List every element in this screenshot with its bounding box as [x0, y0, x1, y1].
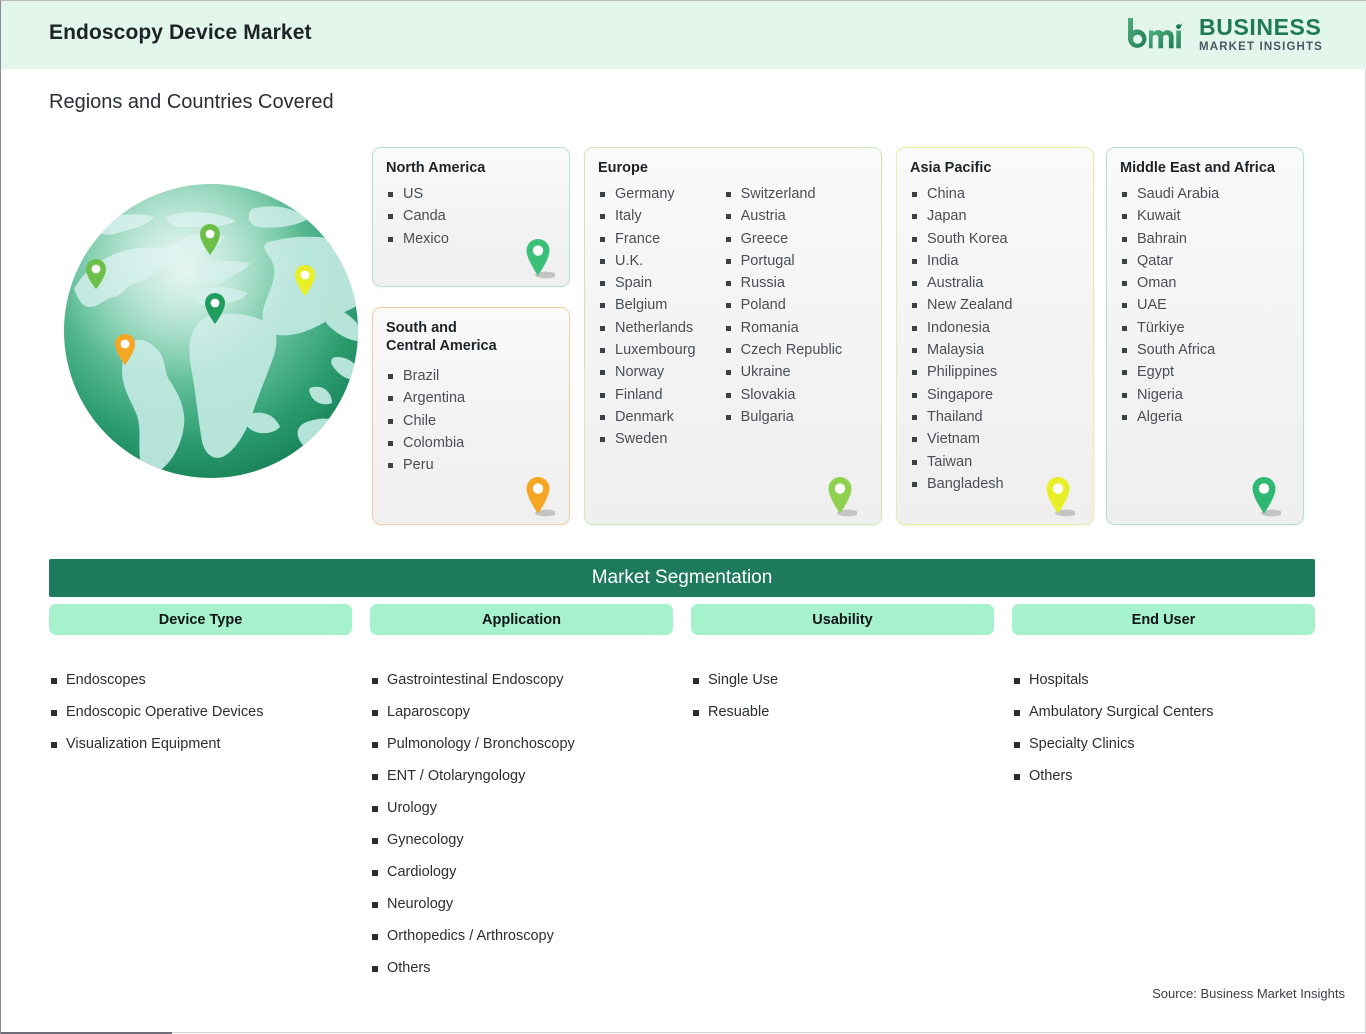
region-card-middle-east-and-africa: Middle East and Africa Saudi Arabia Kuwa…: [1106, 147, 1304, 525]
list-item: Orthopedics / Arthroscopy: [370, 920, 673, 952]
country-item: Finland: [598, 384, 696, 406]
world-globe-icon: [56, 181, 366, 481]
country-item: Indonesia: [910, 317, 1081, 339]
list-item: ENT / Otolaryngology: [370, 760, 673, 792]
footer-divider-right: [172, 1032, 1366, 1033]
segmentation-column-device-type: Device Type Endoscopes Endoscopic Operat…: [49, 604, 352, 984]
country-item: U.K.: [598, 250, 696, 272]
country-item: Spain: [598, 272, 696, 294]
segmentation-column-header: End User: [1012, 604, 1315, 635]
list-item: Gynecology: [370, 824, 673, 856]
country-item: Nigeria: [1120, 384, 1291, 406]
page-title: Endoscopy Device Market: [49, 21, 312, 45]
segmentation-column-application: Application Gastrointestinal Endoscopy L…: [370, 604, 673, 984]
region-card-title: Asia Pacific: [910, 159, 1081, 177]
company-logo: BUSINESS MARKET INSIGHTS: [1124, 12, 1323, 58]
list-item: Ambulatory Surgical Centers: [1012, 696, 1315, 728]
region-country-list-column-2: Switzerland Austria Greece Portugal Russ…: [724, 183, 843, 451]
list-item: Resuable: [691, 696, 994, 728]
country-item: UAE: [1120, 294, 1291, 316]
market-segmentation-title: Market Segmentation: [592, 567, 773, 589]
country-item: South Korea: [910, 228, 1081, 250]
logo-line-1: BUSINESS: [1199, 16, 1323, 39]
list-item: Cardiology: [370, 856, 673, 888]
country-item: Canda: [386, 205, 557, 227]
country-item: Czech Republic: [724, 339, 843, 361]
country-item: Colombia: [386, 432, 557, 454]
country-item: Algeria: [1120, 406, 1291, 428]
country-item: France: [598, 228, 696, 250]
source-attribution: Source: Business Market Insights: [1152, 986, 1345, 1001]
country-item: Saudi Arabia: [1120, 183, 1291, 205]
list-item: Specialty Clinics: [1012, 728, 1315, 760]
logo-line-2: MARKET INSIGHTS: [1199, 42, 1323, 54]
country-item: Japan: [910, 205, 1081, 227]
country-item: Denmark: [598, 406, 696, 428]
bmi-monogram-icon: [1124, 15, 1190, 55]
country-item: Qatar: [1120, 250, 1291, 272]
region-card-north-america: North America US Canda Mexico: [372, 147, 570, 287]
country-item: New Zealand: [910, 294, 1081, 316]
list-item: Others: [370, 952, 673, 984]
region-country-list: Brazil Argentina Chile Colombia Peru: [386, 365, 557, 476]
logo-wordmark: BUSINESS MARKET INSIGHTS: [1199, 16, 1323, 54]
list-item: Endoscopes: [49, 664, 352, 696]
country-item: Bahrain: [1120, 228, 1291, 250]
country-item: Bulgaria: [724, 406, 843, 428]
region-card-title: South and Central America: [386, 319, 557, 355]
region-card-title-line1: South and: [386, 320, 457, 336]
country-item: Slovakia: [724, 384, 843, 406]
regions-section-title: Regions and Countries Covered: [49, 91, 334, 114]
country-item: Egypt: [1120, 361, 1291, 383]
country-item: Ukraine: [724, 361, 843, 383]
country-item: Philippines: [910, 361, 1081, 383]
country-item: Netherlands: [598, 317, 696, 339]
list-item: Visualization Equipment: [49, 728, 352, 760]
map-pin-icon: [521, 236, 555, 280]
list-item: Pulmonology / Bronchoscopy: [370, 728, 673, 760]
country-item: Italy: [598, 205, 696, 227]
map-pin-icon: [823, 474, 857, 518]
region-card-europe: Europe Germany Italy France U.K. Spain B…: [584, 147, 882, 525]
region-country-list-column-1: Germany Italy France U.K. Spain Belgium …: [598, 183, 696, 451]
country-item: Thailand: [910, 406, 1081, 428]
region-card-title: Europe: [598, 159, 869, 177]
region-country-list: Saudi Arabia Kuwait Bahrain Qatar Oman U…: [1120, 183, 1291, 428]
country-item: Argentina: [386, 387, 557, 409]
list-item: Laparoscopy: [370, 696, 673, 728]
country-item: Belgium: [598, 294, 696, 316]
country-item: Vietnam: [910, 428, 1081, 450]
region-card-asia-pacific: Asia Pacific China Japan South Korea Ind…: [896, 147, 1094, 525]
map-pin-icon: [1041, 474, 1075, 518]
segmentation-column-usability: Usability Single Use Resuable: [691, 604, 994, 984]
region-card-title-line2: Central America: [386, 338, 497, 354]
country-item: China: [910, 183, 1081, 205]
list-item: Urology: [370, 792, 673, 824]
country-item: Kuwait: [1120, 205, 1291, 227]
country-item: Malaysia: [910, 339, 1081, 361]
page-header: Endoscopy Device Market BUSINES: [1, 1, 1366, 69]
segmentation-item-list: Gastrointestinal Endoscopy Laparoscopy P…: [370, 664, 673, 984]
list-item: Neurology: [370, 888, 673, 920]
segmentation-column-header: Application: [370, 604, 673, 635]
list-item: Hospitals: [1012, 664, 1315, 696]
segmentation-item-list: Endoscopes Endoscopic Operative Devices …: [49, 664, 352, 760]
segmentation-item-list: Hospitals Ambulatory Surgical Centers Sp…: [1012, 664, 1315, 792]
country-item: India: [910, 250, 1081, 272]
segmentation-column-header: Device Type: [49, 604, 352, 635]
country-item: South Africa: [1120, 339, 1291, 361]
map-pin-icon: [1247, 474, 1281, 518]
list-item: Single Use: [691, 664, 994, 696]
infographic-page: Endoscopy Device Market BUSINES: [0, 0, 1366, 1034]
country-item: US: [386, 183, 557, 205]
country-item: Switzerland: [724, 183, 843, 205]
country-item: Australia: [910, 272, 1081, 294]
region-card-south-and-central-america: South and Central America Brazil Argenti…: [372, 307, 570, 525]
country-item: Brazil: [386, 365, 557, 387]
country-item: Russia: [724, 272, 843, 294]
country-item: Germany: [598, 183, 696, 205]
country-item: Austria: [724, 205, 843, 227]
map-pin-icon: [521, 474, 555, 518]
country-item: Romania: [724, 317, 843, 339]
country-item: Taiwan: [910, 451, 1081, 473]
segmentation-columns: Device Type Endoscopes Endoscopic Operat…: [49, 604, 1315, 984]
segmentation-column-header: Usability: [691, 604, 994, 635]
country-item: Singapore: [910, 384, 1081, 406]
region-card-title: North America: [386, 159, 557, 177]
segmentation-item-list: Single Use Resuable: [691, 664, 994, 728]
market-segmentation-bar: Market Segmentation: [49, 559, 1315, 597]
region-country-list: China Japan South Korea India Australia …: [910, 183, 1081, 495]
country-item: Greece: [724, 228, 843, 250]
region-card-title: Middle East and Africa: [1120, 159, 1291, 177]
country-item: Türkiye: [1120, 317, 1291, 339]
list-item: Endoscopic Operative Devices: [49, 696, 352, 728]
list-item: Gastrointestinal Endoscopy: [370, 664, 673, 696]
segmentation-column-end-user: End User Hospitals Ambulatory Surgical C…: [1012, 604, 1315, 984]
list-item: Others: [1012, 760, 1315, 792]
country-item: Portugal: [724, 250, 843, 272]
country-item: Chile: [386, 410, 557, 432]
country-item: Poland: [724, 294, 843, 316]
country-item: Oman: [1120, 272, 1291, 294]
country-item: Luxembourg: [598, 339, 696, 361]
country-item: Norway: [598, 361, 696, 383]
country-item: Sweden: [598, 428, 696, 450]
